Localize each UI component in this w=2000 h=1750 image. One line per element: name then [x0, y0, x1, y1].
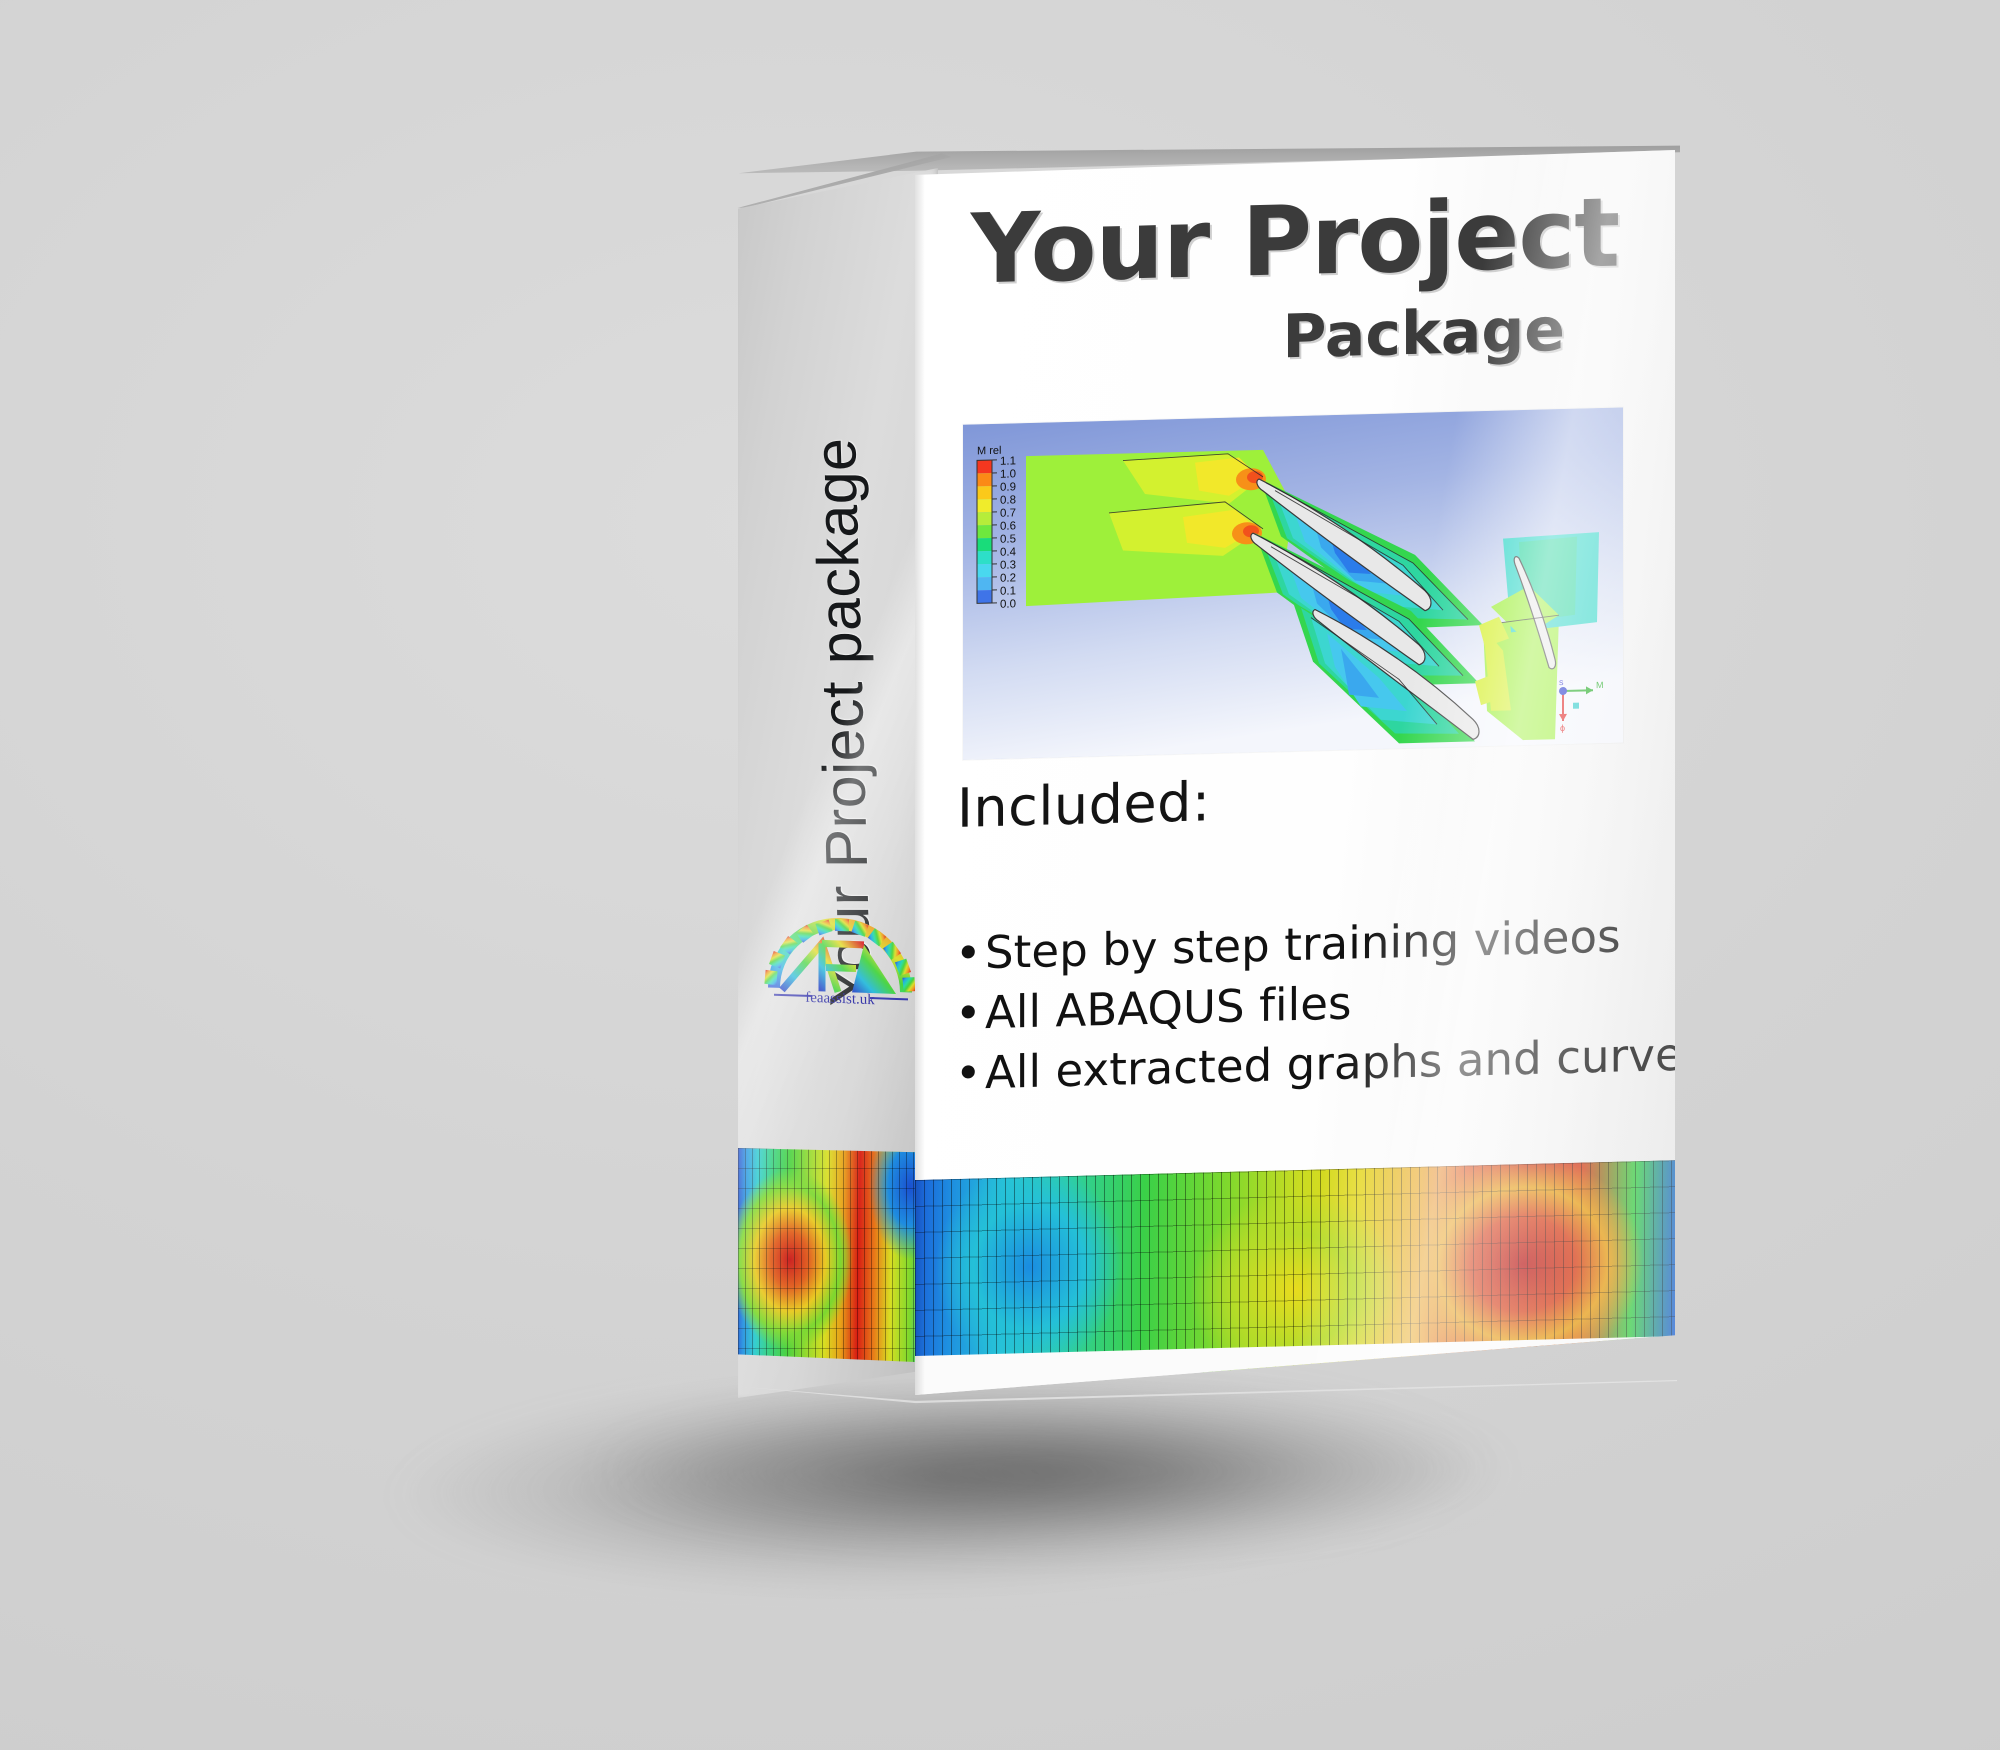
product-box: Your Project package: [0, 0, 2000, 1750]
colorbar-tick: 0.4: [1000, 546, 1017, 558]
bullet-dot: •: [955, 983, 985, 1044]
colorbar-tick: 0.2: [1000, 572, 1016, 584]
logo-svg: feaassist.uk: [760, 905, 920, 1016]
logo-fea-mark: [782, 942, 896, 994]
axis-label-m: M: [1596, 680, 1603, 690]
axis-label-s: s: [1559, 677, 1564, 687]
colorbar-tick: 1.0: [1000, 468, 1016, 480]
colorbar-tick: 0.6: [1000, 520, 1016, 532]
included-heading: Included:: [957, 770, 1211, 840]
bullet-dot: •: [955, 923, 985, 984]
spine-fea-band: [738, 1148, 938, 1363]
front-content: Your Project Package: [915, 130, 1675, 1395]
colorbar-tick: 0.8: [1000, 494, 1016, 506]
axis-label-phi: ϕ: [1560, 723, 1565, 733]
colorbar-tick: 0.3: [1000, 559, 1016, 571]
box-spine: Your Project package: [738, 168, 938, 1398]
list-item-label: All ABAQUS files: [985, 976, 1352, 1039]
cfd-svg: M rel: [963, 407, 1623, 759]
colorbar-tick: 0.1: [1000, 585, 1016, 597]
colorbar-title: M rel: [977, 445, 1001, 458]
bullet-dot: •: [955, 1043, 985, 1104]
cfd-contour-figure: M rel: [963, 407, 1623, 759]
spine-title: Your Project package: [793, 162, 892, 1282]
box-front-face: Your Project Package: [915, 150, 1675, 1395]
fea-assist-logo: feaassist.uk: [760, 905, 920, 1016]
list-item-label: Step by step training videos: [985, 910, 1621, 980]
colorbar-tick: 0.9: [1000, 481, 1016, 493]
colorbar-tick: 0.5: [1000, 533, 1016, 545]
colorbar-tick: 0.7: [1000, 507, 1016, 519]
page-subtitle: Package: [915, 292, 1675, 382]
included-list: •Step by step training videos •All ABAQU…: [955, 906, 1645, 1104]
logo-underline-right: [870, 998, 908, 999]
colorbar-tick: 1.1: [1000, 455, 1016, 467]
logo-url-text: feaassist.uk: [805, 990, 875, 1008]
colorbar-tick: 0.0: [1000, 598, 1016, 610]
box-bottom-face: [737, 1380, 1677, 1435]
page-title: Your Project: [915, 175, 1675, 307]
